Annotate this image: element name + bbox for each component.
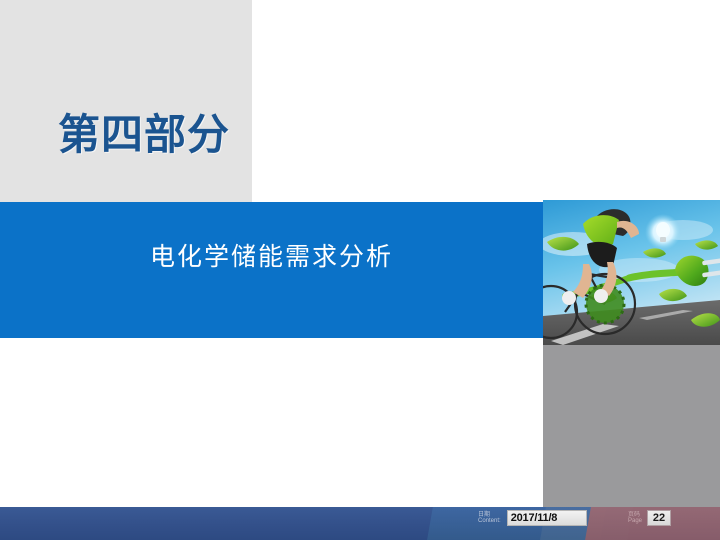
page-title: 第四部分 xyxy=(58,114,230,156)
footer-date-group: 日期 Content: 2017/11/8 xyxy=(478,510,587,526)
footer-page-group: 页码 Page 22 xyxy=(628,510,671,526)
date-label-en: Content: xyxy=(478,518,501,524)
page-number-value: 22 xyxy=(653,512,665,524)
slide-footer xyxy=(0,507,720,540)
date-label: 日期 Content: xyxy=(478,512,501,525)
slide-canvas: 第四部分 电化学储能需求分析 xyxy=(0,0,720,540)
top-left-gray-panel xyxy=(0,0,252,202)
date-field[interactable]: 2017/11/8 xyxy=(507,510,587,526)
page-label-en: Page xyxy=(628,518,642,524)
page-number-field[interactable]: 22 xyxy=(647,510,671,526)
page-label: 页码 Page xyxy=(628,512,642,525)
date-value: 2017/11/8 xyxy=(508,512,558,524)
cyclist-green-energy-photo xyxy=(543,200,720,345)
banner-subtitle: 电化学储能需求分析 xyxy=(0,242,543,272)
bottom-right-gray-block xyxy=(543,345,720,507)
